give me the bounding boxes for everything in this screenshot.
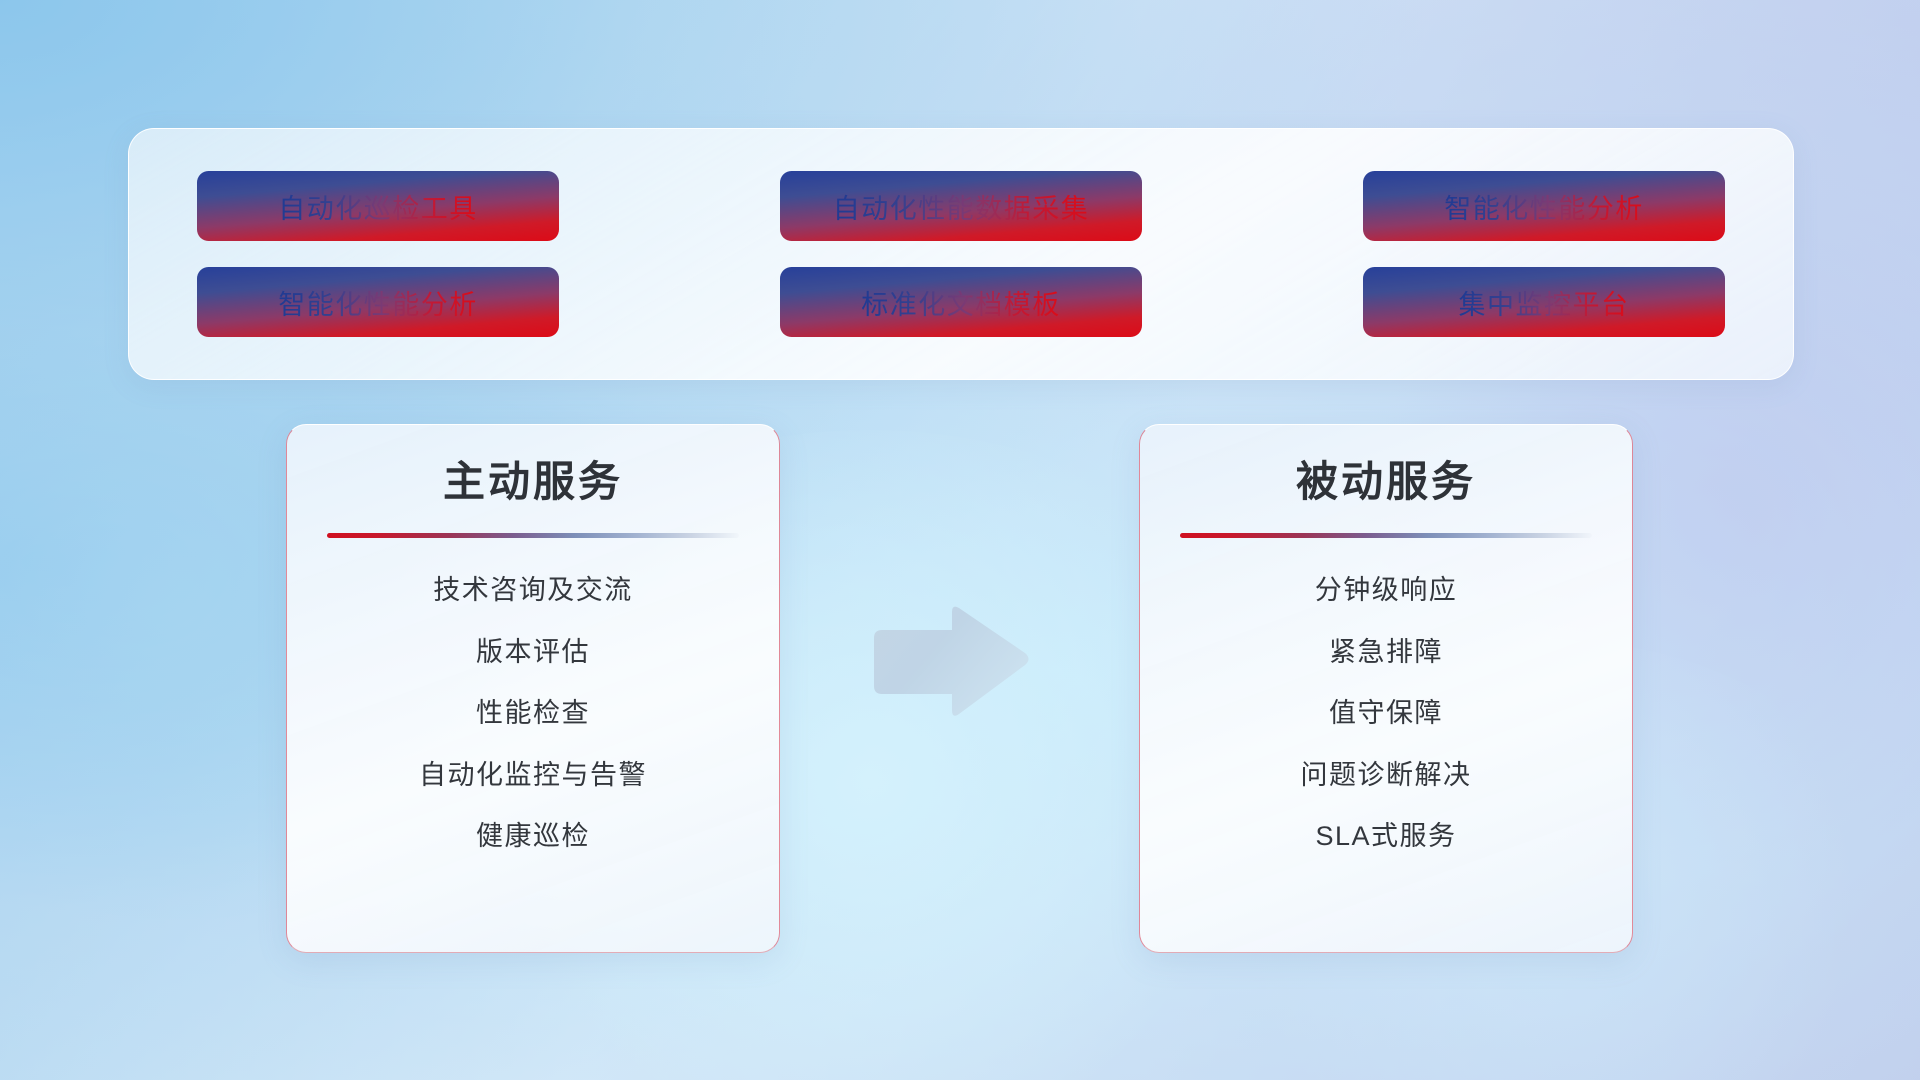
- capability-pill-centralized-monitoring-platform[interactable]: 集中监控平台: [1365, 269, 1723, 335]
- list-item: 版本评估: [476, 634, 590, 670]
- capability-pill-automated-performance-data-collection[interactable]: 自动化性能数据采集: [782, 173, 1140, 239]
- capability-row-2: 智能化性能分析 标准化文档模板 集中监控平台: [199, 269, 1723, 335]
- proactive-service-card: 主动服务 技术咨询及交流 版本评估 性能检查 自动化监控与告警 健康巡检: [286, 424, 780, 953]
- infographic-canvas: 自动化巡检工具 自动化性能数据采集 智能化性能分析 智能化性能分析 标准化文档模…: [0, 0, 1920, 1080]
- flow-arrow: [866, 602, 1032, 722]
- capability-pill-intelligent-performance-analysis-a[interactable]: 智能化性能分析: [1365, 173, 1723, 239]
- capability-pill-label: 智能化性能分析: [1444, 187, 1644, 226]
- list-item: 技术咨询及交流: [433, 572, 633, 608]
- list-item: 值守保障: [1329, 695, 1443, 731]
- capability-pill-automated-inspection-tool[interactable]: 自动化巡检工具: [199, 173, 557, 239]
- capability-pill-label: 智能化性能分析: [278, 283, 478, 322]
- proactive-service-title: 主动服务: [443, 459, 623, 505]
- capability-pill-label: 标准化文档模板: [861, 283, 1061, 322]
- list-item: 自动化监控与告警: [419, 757, 647, 793]
- capability-pill-label: 自动化性能数据采集: [833, 187, 1090, 226]
- list-item: SLA式服务: [1315, 818, 1456, 854]
- capability-row-1: 自动化巡检工具 自动化性能数据采集 智能化性能分析: [199, 173, 1723, 239]
- proactive-title-divider: [327, 533, 739, 538]
- arrow-right-icon: [866, 602, 1032, 722]
- capability-pill-standardized-document-template[interactable]: 标准化文档模板: [782, 269, 1140, 335]
- list-item: 健康巡检: [476, 818, 590, 854]
- list-item: 分钟级响应: [1315, 572, 1458, 608]
- reactive-service-item-list: 分钟级响应 紧急排障 值守保障 问题诊断解决 SLA式服务: [1180, 572, 1592, 854]
- list-item: 性能检查: [476, 695, 590, 731]
- capability-pill-label: 集中监控平台: [1459, 283, 1630, 322]
- reactive-service-card: 被动服务 分钟级响应 紧急排障 值守保障 问题诊断解决 SLA式服务: [1139, 424, 1633, 953]
- list-item: 问题诊断解决: [1301, 757, 1472, 793]
- capability-pill-label: 自动化巡检工具: [278, 187, 478, 226]
- proactive-service-item-list: 技术咨询及交流 版本评估 性能检查 自动化监控与告警 健康巡检: [327, 572, 739, 854]
- list-item: 紧急排障: [1329, 634, 1443, 670]
- capability-panel: 自动化巡检工具 自动化性能数据采集 智能化性能分析 智能化性能分析 标准化文档模…: [128, 128, 1794, 380]
- reactive-title-divider: [1180, 533, 1592, 538]
- reactive-service-title: 被动服务: [1296, 459, 1476, 505]
- capability-pill-intelligent-performance-analysis-b[interactable]: 智能化性能分析: [199, 269, 557, 335]
